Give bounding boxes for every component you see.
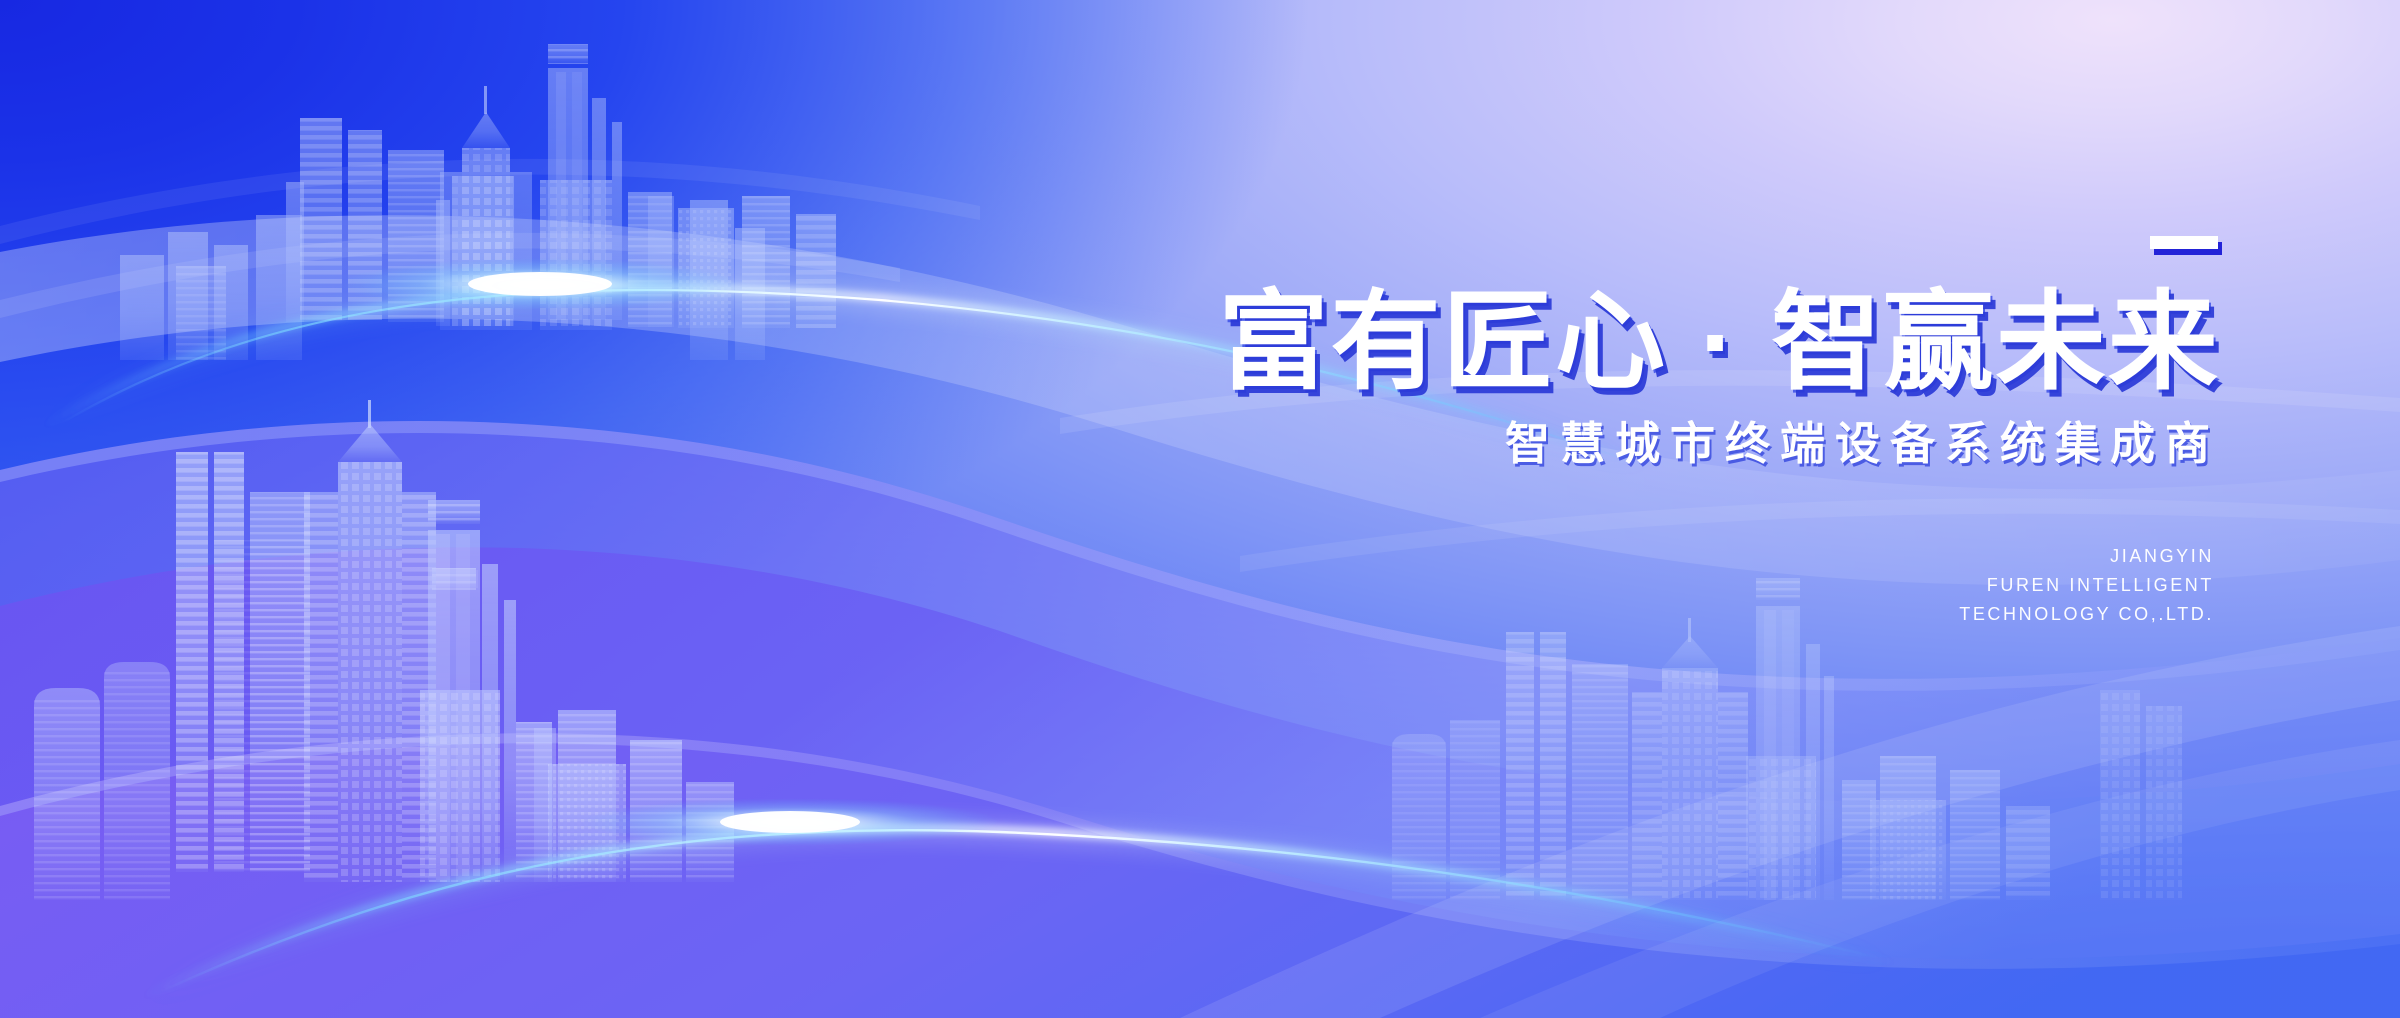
company-line-suffix: TECHNOLOGY CO,.LTD. xyxy=(982,600,2214,629)
page-subtitle: 智慧城市终端设备系统集成商 xyxy=(982,418,2222,470)
banner-text-block: 富有匠心 · 智赢未来 智慧城市终端设备系统集成商 JIANGYIN FUREN… xyxy=(982,236,2222,629)
company-line-city: JIANGYIN xyxy=(982,542,2214,571)
glow-arc-lower xyxy=(140,798,1900,1000)
company-name-block: JIANGYIN FUREN INTELLIGENT TECHNOLOGY CO… xyxy=(982,542,2222,629)
accent-rule-icon xyxy=(2150,236,2218,249)
banner-canvas: 富有匠心 · 智赢未来 智慧城市终端设备系统集成商 JIANGYIN FUREN… xyxy=(0,0,2400,1018)
page-title: 富有匠心 · 智赢未来 xyxy=(957,288,2222,396)
company-line-name: FUREN INTELLIGENT xyxy=(982,571,2214,600)
